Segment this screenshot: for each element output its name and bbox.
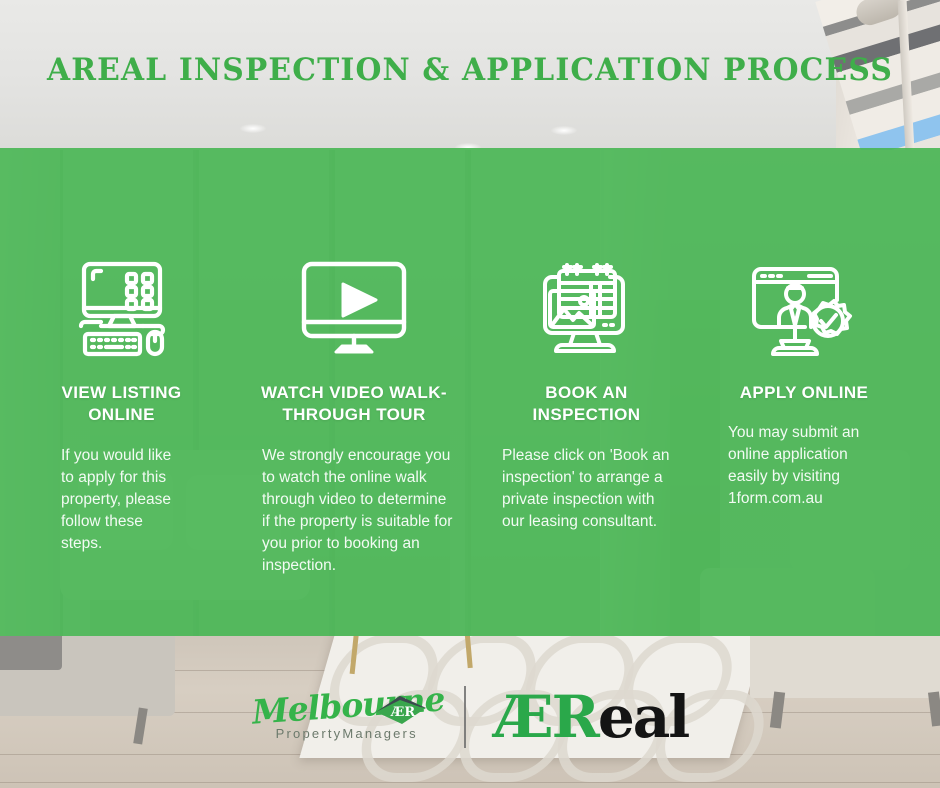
desktop-monitor-keyboard-mouse-icon xyxy=(70,258,174,358)
step-3-icon-box xyxy=(498,248,675,368)
steps-row: VIEW LISTING ONLINE If you would like to… xyxy=(0,248,940,577)
step-card-book-inspection: BOOK AN INSPECTION Please click on 'Book… xyxy=(470,248,700,577)
ceiling-downlight xyxy=(551,126,577,135)
melbourne-property-managers-logo: Melbourne ÆR PropertyManagers xyxy=(252,682,442,752)
footer-logos: Melbourne ÆR PropertyManagers ÆR eal xyxy=(0,672,940,762)
step-4-title: APPLY ONLINE xyxy=(720,382,888,404)
ceiling-downlight xyxy=(240,124,266,133)
step-card-watch-video: WATCH VIDEO WALK-THROUGH TOUR We strongl… xyxy=(240,248,470,577)
step-4-icon-box xyxy=(720,248,888,368)
logo-divider xyxy=(464,686,466,748)
step-3-body: Please click on 'Book an inspection' to … xyxy=(498,445,675,533)
step-2-icon-box xyxy=(250,248,458,368)
step-3-title: BOOK AN INSPECTION xyxy=(498,382,675,427)
property-managers-text: PropertyManagers xyxy=(276,726,418,741)
roof-monogram-text: ÆR xyxy=(390,705,415,720)
monitor-person-gear-check-icon xyxy=(743,256,865,360)
step-1-title: VIEW LISTING ONLINE xyxy=(55,382,188,427)
step-1-icon-box xyxy=(55,248,188,368)
step-card-view-listing: VIEW LISTING ONLINE If you would like to… xyxy=(0,248,240,577)
step-2-body: We strongly encourage you to watch the o… xyxy=(250,445,458,577)
monitor-calendar-photo-icon xyxy=(528,255,646,361)
monitor-play-video-icon xyxy=(296,258,412,358)
areal-logo-green-part: ÆR xyxy=(494,688,598,746)
floor-plank-line xyxy=(0,782,940,783)
step-2-title: WATCH VIDEO WALK-THROUGH TOUR xyxy=(250,382,458,427)
areal-logo: ÆR eal xyxy=(494,688,689,746)
page-title: AREAL INSPECTION & APPLICATION PROCESS xyxy=(19,52,921,88)
cabinet-dark-panel xyxy=(0,636,62,670)
page-title-wrap: AREAL INSPECTION & APPLICATION PROCESS xyxy=(0,52,940,88)
step-1-body: If you would like to apply for this prop… xyxy=(55,445,188,555)
step-card-apply-online: APPLY ONLINE You may submit an online ap… xyxy=(700,248,940,577)
step-4-body: You may submit an online application eas… xyxy=(720,422,888,510)
poster-canvas: AREAL INSPECTION & APPLICATION PROCESS xyxy=(0,0,940,788)
areal-logo-black-part: eal xyxy=(598,688,689,746)
